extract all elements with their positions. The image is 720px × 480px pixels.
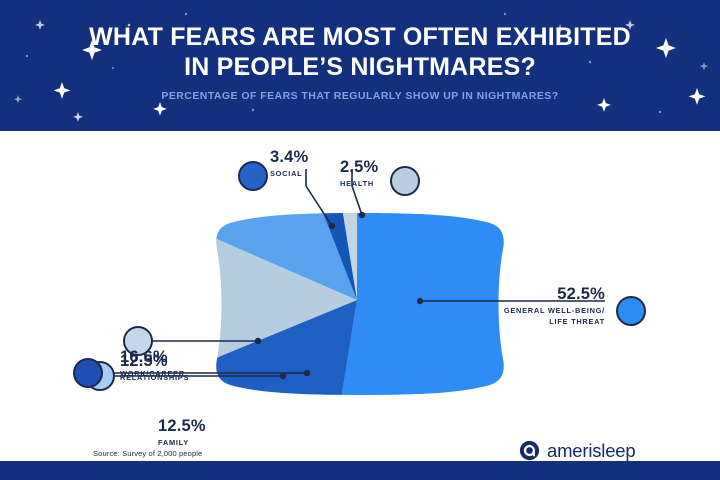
callout-percent: 12.5% (158, 418, 206, 435)
callout-category: SOCIAL (270, 169, 308, 179)
page-title: WHAT FEARS ARE MOST OFTEN EXHIBITED IN P… (0, 22, 720, 82)
callout-percent: 16.6% (120, 349, 185, 366)
callout-general-wellbeing: 52.5% GENERAL WELL-BEING/ LIFE THREAT (430, 286, 605, 326)
dot-marker-general-wellbeing[interactable] (617, 297, 645, 325)
callout-category: WORK/CAREER (120, 369, 185, 379)
chart-area: 12.5% RELATIONSHIPS 12.5% FAMILY 16.6% W… (0, 131, 720, 461)
leader-dot-general-wellbeing (417, 298, 423, 304)
callout-family: 12.5% FAMILY (158, 418, 206, 448)
leader-dot-family (255, 338, 261, 344)
infographic-root: WHAT FEARS ARE MOST OFTEN EXHIBITED IN P… (0, 0, 720, 480)
dot-marker-health[interactable] (391, 167, 419, 195)
footer-bar (0, 461, 720, 480)
callout-percent: 3.4% (270, 149, 308, 166)
source-note: Source: Survey of 2,000 people (93, 449, 202, 458)
page-subtitle: PERCENTAGE OF FEARS THAT REGULARLY SHOW … (0, 90, 720, 102)
dot-marker-social[interactable] (239, 162, 267, 190)
callout-percent: 52.5% (430, 286, 605, 303)
title-line-1: WHAT FEARS ARE MOST OFTEN EXHIBITED (89, 23, 631, 51)
leader-dot-social (329, 223, 335, 229)
leader-dot-health (359, 212, 365, 218)
callout-percent: 2.5% (340, 159, 378, 176)
callout-category: FAMILY (158, 438, 206, 448)
callout-category-line2: LIFE THREAT (430, 317, 605, 327)
title-line-2: IN PEOPLE’S NIGHTMARES? (0, 52, 720, 82)
leader-dot-work-career (304, 370, 310, 376)
footer: Source: Survey of 2,000 people amerislee… (0, 461, 720, 480)
callout-work-career: 16.6% WORK/CAREER (120, 349, 185, 379)
callout-health: 2.5% HEALTH (340, 159, 378, 189)
brand-wordmark: amerisleep (547, 442, 636, 460)
amerisleep-a-mark-icon (519, 440, 540, 461)
callout-social: 3.4% SOCIAL (270, 149, 308, 179)
dot-marker-work-career[interactable] (74, 359, 102, 387)
brand-logo[interactable]: amerisleep (519, 440, 636, 461)
leader-dot-relationships (280, 373, 286, 379)
header-banner: WHAT FEARS ARE MOST OFTEN EXHIBITED IN P… (0, 0, 720, 131)
callout-category: HEALTH (340, 179, 378, 189)
callout-category: GENERAL WELL-BEING/ (430, 306, 605, 316)
